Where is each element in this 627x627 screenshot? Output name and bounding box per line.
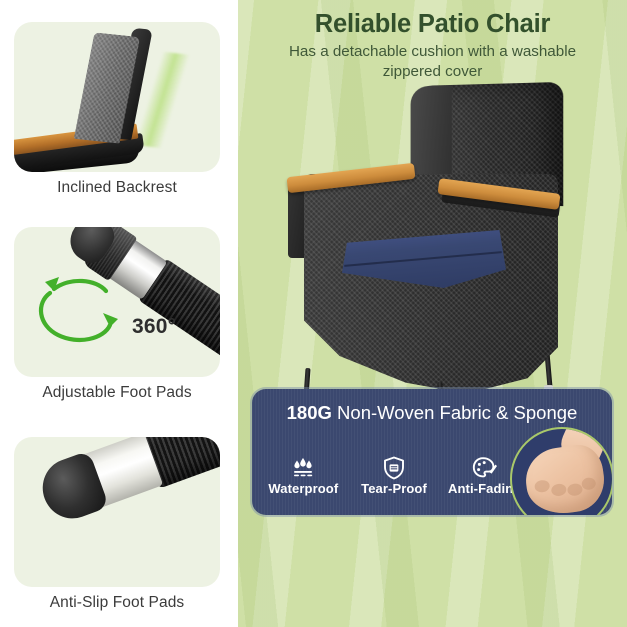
- fabric-spec-banner: 180G Non-Woven Fabric & Sponge: [252, 389, 612, 515]
- knuckle: [567, 483, 584, 497]
- anti-slip-foot-pad-icon: [44, 437, 220, 523]
- feature-inclined-backrest[interactable]: Inclined Backrest: [14, 22, 220, 197]
- product-panel: Reliable Patio Chair Has a detachable cu…: [238, 0, 627, 627]
- banner-feature-label: Tear-Proof: [349, 481, 440, 496]
- water-drops-icon: [258, 455, 349, 481]
- knuckle: [551, 483, 568, 497]
- feature-label: Inclined Backrest: [14, 179, 220, 197]
- banner-feature-label: Waterproof: [258, 481, 349, 496]
- inclined-backrest-icon: [14, 22, 220, 172]
- feature-image-card: 360°: [14, 227, 220, 377]
- feature-column: Inclined Backrest 360° Adjustabl: [0, 0, 238, 627]
- fist: [522, 442, 608, 515]
- feature-image-card: [14, 22, 220, 172]
- shield-icon: [349, 455, 440, 481]
- banner-feature-tear-proof: Tear-Proof: [349, 455, 440, 496]
- rotation-degrees-label: 360°: [132, 315, 176, 339]
- feature-label: Adjustable Foot Pads: [14, 384, 220, 402]
- banner-feature-row: Waterproof Tear-Proof: [258, 455, 530, 496]
- adjustable-foot-pad-icon: [86, 227, 220, 360]
- banner-feature-waterproof: Waterproof: [258, 455, 349, 496]
- banner-title: 180G Non-Woven Fabric & Sponge: [252, 402, 612, 424]
- knuckle: [581, 477, 597, 491]
- feature-image-card: [14, 437, 220, 587]
- fabric-weight: 180G: [287, 402, 332, 423]
- page-subtitle: Has a detachable cushion with a washable…: [264, 42, 601, 82]
- fabric-description: Non-Woven Fabric & Sponge: [332, 402, 577, 423]
- page-title: Reliable Patio Chair: [238, 10, 627, 39]
- feature-adjustable-foot-pads[interactable]: 360° Adjustable Foot Pads: [14, 227, 220, 402]
- knuckle: [534, 479, 551, 493]
- feature-label: Anti-Slip Foot Pads: [14, 594, 220, 612]
- feature-anti-slip-foot-pads[interactable]: Anti-Slip Foot Pads: [14, 437, 220, 612]
- infographic-page: Inclined Backrest 360° Adjustabl: [0, 0, 627, 627]
